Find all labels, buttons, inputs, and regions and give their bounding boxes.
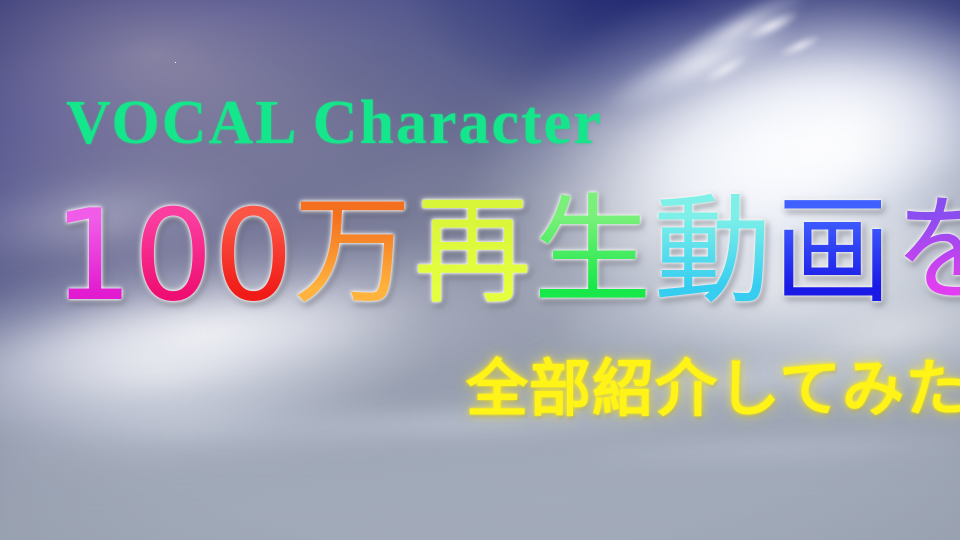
heading-vocal-character: VOCAL Character bbox=[66, 92, 603, 154]
text-layer: VOCAL Character 100万再生動画を 全部紹介してみた！ bbox=[0, 0, 960, 540]
main-title-glyph-4: 再 bbox=[413, 188, 533, 315]
main-title-glyph-0: 1 bbox=[52, 188, 132, 324]
main-title-glyph-7: 画 bbox=[773, 188, 893, 315]
main-title-glyph-8: を bbox=[893, 188, 960, 313]
main-title-glyph-1: 0 bbox=[132, 188, 212, 324]
main-title-glyph-6: 動 bbox=[653, 188, 773, 315]
main-title-glyph-3: 万 bbox=[293, 188, 413, 315]
sub-title-line: 全部紹介してみた！ bbox=[466, 356, 960, 421]
main-title-line: 100万再生動画を bbox=[52, 188, 960, 324]
main-title-glyph-2: 0 bbox=[212, 188, 292, 324]
main-title-glyph-5: 生 bbox=[533, 188, 653, 315]
thumbnail-canvas: VOCAL Character 100万再生動画を 全部紹介してみた！ bbox=[0, 0, 960, 540]
